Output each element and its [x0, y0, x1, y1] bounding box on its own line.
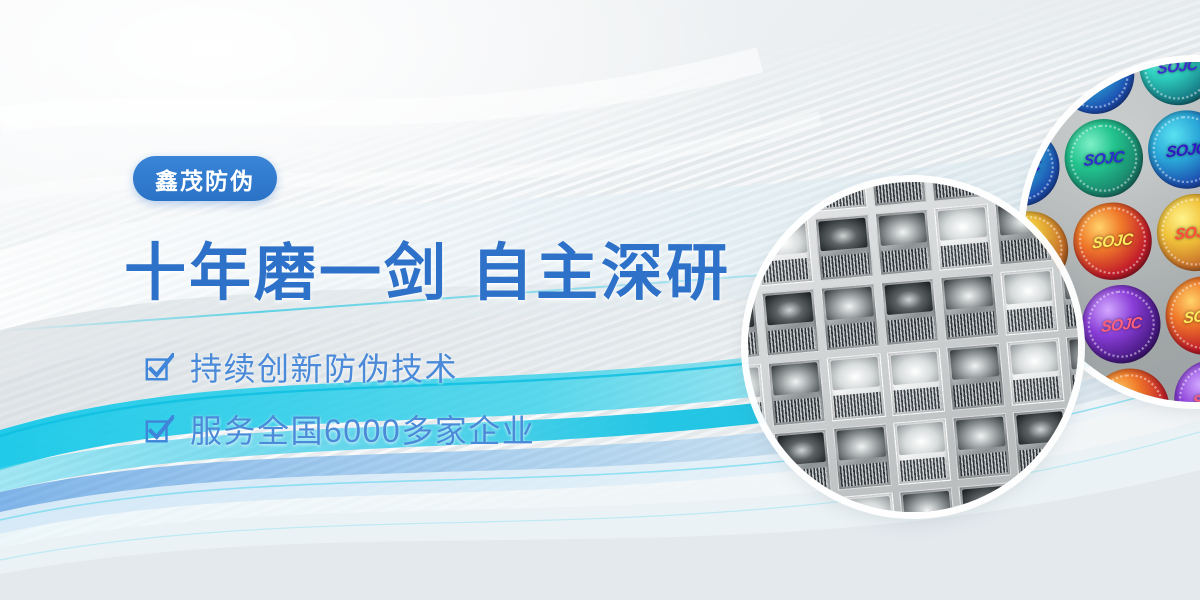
- label-barcode: [1067, 301, 1078, 327]
- label-emblem: [890, 352, 939, 386]
- silver-label: [755, 219, 814, 287]
- silver-label: [1012, 407, 1071, 475]
- silver-label: [1060, 262, 1078, 330]
- brand-badge-label: 鑫茂防伪: [155, 162, 255, 196]
- label-barcode: [774, 397, 823, 423]
- silver-label: [809, 182, 868, 212]
- silver-label: [899, 487, 958, 512]
- label-barcode: [953, 381, 1002, 407]
- label-emblem: [771, 362, 820, 396]
- label-emblem: [944, 277, 993, 311]
- list-item: 持续创新防伪技术: [144, 336, 535, 398]
- silver-label-grid: [748, 182, 1078, 512]
- holo-sticker-text: SOJC: [1091, 230, 1133, 252]
- label-barcode: [1054, 182, 1078, 187]
- label-barcode: [893, 387, 942, 413]
- promo-banner: SOJC SOJC SOJC SOJC SOJC SOJC SOJC SOJC …: [0, 0, 1200, 600]
- holo-sticker: SOJC: [1078, 281, 1164, 367]
- label-emblem: [884, 282, 933, 316]
- label-barcode: [1013, 376, 1062, 402]
- silver-label: [1006, 337, 1065, 405]
- silver-label: [874, 208, 933, 276]
- silver-label: [761, 289, 820, 357]
- label-barcode: [887, 317, 936, 343]
- holo-sticker: SOJC: [1170, 356, 1200, 402]
- label-emblem: [1004, 271, 1053, 305]
- label-emblem: [765, 292, 814, 326]
- holo-sticker: SOJC: [1161, 272, 1200, 358]
- label-emblem: [962, 486, 1011, 512]
- label-barcode: [1061, 231, 1078, 257]
- holo-sticker-text: SOJC: [1165, 138, 1200, 160]
- label-emblem: [956, 416, 1005, 450]
- label-barcode: [899, 456, 948, 482]
- label-emblem: [998, 202, 1047, 236]
- silver-label: [994, 198, 1053, 266]
- silver-label: [946, 343, 1005, 411]
- holo-sticker: SOJC: [1025, 62, 1054, 126]
- label-emblem: [1016, 411, 1065, 445]
- holo-sticker-text: SOJC: [1025, 155, 1040, 177]
- silver-label: [1054, 193, 1078, 261]
- label-emblem: [1076, 406, 1078, 440]
- silver-label: [893, 418, 952, 486]
- silver-label: [1000, 268, 1059, 336]
- silver-label: [767, 358, 826, 426]
- silver-label: [928, 182, 987, 201]
- silver-label: [839, 493, 898, 512]
- holo-sticker-text: SOJC: [1073, 63, 1115, 85]
- label-barcode: [834, 392, 883, 418]
- silver-label: [1018, 477, 1077, 512]
- silver-label: [833, 423, 892, 491]
- silver-label: [1072, 402, 1078, 470]
- label-emblem: [777, 432, 826, 466]
- checkbox-checked-icon: [144, 353, 174, 383]
- silver-label: [821, 283, 880, 351]
- label-barcode: [995, 182, 1044, 192]
- label-barcode: [768, 327, 817, 353]
- silver-label: [934, 203, 993, 271]
- headline-part-2: 自主深研: [471, 239, 731, 308]
- holo-sticker-text: SOJC: [1082, 146, 1124, 168]
- label-emblem: [1022, 481, 1071, 512]
- label-barcode: [780, 467, 829, 493]
- silver-label: [940, 273, 999, 341]
- silver-label: [779, 498, 838, 512]
- label-barcode: [1019, 446, 1068, 472]
- label-emblem: [902, 491, 951, 512]
- label-barcode: [815, 183, 864, 209]
- checkbox-checked-icon: [144, 415, 174, 445]
- label-barcode: [1073, 371, 1078, 397]
- holo-sticker-text: SOJC: [1157, 62, 1199, 77]
- holo-sticker: SOJC: [1069, 198, 1155, 284]
- silver-label: [773, 428, 832, 496]
- holo-sticker: SOJC: [1051, 62, 1137, 117]
- banner-content: 鑫茂防伪 十年磨一剑自主深研 持续创新防伪技术 服务全国6000多家企业: [0, 0, 760, 600]
- label-emblem: [843, 496, 892, 512]
- label-barcode: [941, 242, 990, 268]
- label-emblem: [783, 502, 832, 512]
- silver-label: [881, 278, 940, 346]
- silver-label: [868, 182, 927, 206]
- silver-label: [1066, 332, 1078, 400]
- label-emblem: [950, 346, 999, 380]
- holo-sticker: SOJC: [1135, 62, 1200, 108]
- image-silver-hologram-label-sheet: [748, 182, 1078, 512]
- label-emblem: [1057, 196, 1078, 230]
- list-item: 服务全国6000多家企业: [144, 398, 535, 460]
- holo-sticker-text: SOJC: [1174, 221, 1200, 243]
- label-barcode: [1007, 306, 1056, 332]
- label-barcode: [1001, 237, 1050, 263]
- holo-sticker-text: SOJC: [1108, 396, 1150, 402]
- silver-label: [815, 214, 874, 282]
- label-emblem: [1064, 266, 1078, 300]
- silver-label: [827, 353, 886, 421]
- label-emblem: [938, 207, 987, 241]
- label-emblem: [818, 217, 867, 251]
- label-barcode: [935, 182, 984, 198]
- silver-label: [959, 482, 1018, 512]
- holo-sticker: SOJC: [1086, 364, 1172, 402]
- silver-label: [988, 182, 1047, 196]
- brand-badge: 鑫茂防伪: [133, 156, 277, 201]
- silver-label: [953, 412, 1012, 480]
- holo-sticker: SOJC: [1152, 189, 1200, 275]
- label-emblem: [878, 212, 927, 246]
- list-item-label: 持续创新防伪技术: [190, 344, 458, 390]
- holo-sticker-text: SOJC: [1192, 387, 1200, 402]
- label-emblem: [758, 222, 807, 256]
- label-barcode: [875, 182, 924, 203]
- label-barcode: [755, 188, 804, 214]
- holo-sticker-text: SOJC: [1100, 313, 1142, 335]
- label-barcode: [959, 451, 1008, 477]
- label-emblem: [824, 287, 873, 321]
- headline-part-1: 十年磨一剑: [124, 239, 449, 308]
- label-barcode: [762, 258, 811, 284]
- holo-sticker-text: SOJC: [1183, 304, 1200, 326]
- label-barcode: [881, 247, 930, 273]
- silver-label: [1048, 182, 1078, 191]
- silver-label: [887, 348, 946, 416]
- label-emblem: [1010, 341, 1059, 375]
- list-item-label: 服务全国6000多家企业: [190, 406, 535, 452]
- label-barcode: [840, 462, 889, 488]
- page-title: 十年磨一剑自主深研: [124, 222, 731, 312]
- label-barcode: [947, 312, 996, 338]
- feature-list: 持续创新防伪技术 服务全国6000多家企业: [144, 336, 535, 460]
- label-emblem: [896, 421, 945, 455]
- label-emblem: [830, 357, 879, 391]
- label-barcode: [827, 322, 876, 348]
- label-emblem: [1070, 336, 1078, 370]
- label-emblem: [837, 427, 886, 461]
- holo-sticker: SOJC: [1143, 106, 1200, 192]
- label-barcode: [821, 252, 870, 278]
- holo-sticker-text: SOJC: [1025, 72, 1032, 94]
